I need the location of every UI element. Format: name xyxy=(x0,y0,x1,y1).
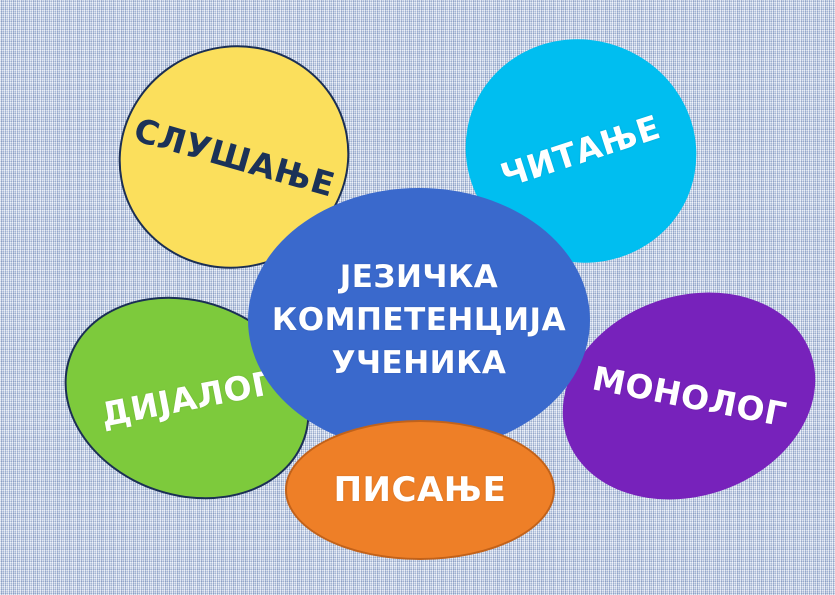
petal-writing[interactable]: ПИСАЊЕ xyxy=(285,420,555,560)
petal-reading-label: ЧИТАЊЕ xyxy=(496,107,665,195)
diagram-canvas: СЛУШАЊЕ ЧИТАЊЕ ДИЈАЛОГ МОНОЛОГ ЈЕЗИЧКА К… xyxy=(0,0,835,595)
petal-writing-label: ПИСАЊЕ xyxy=(334,470,507,510)
petal-listening-label: СЛУШАЊЕ xyxy=(129,110,338,204)
center-line-1: ЈЕЗИЧКА xyxy=(340,259,499,295)
petal-monologue-label: МОНОЛОГ xyxy=(589,358,789,434)
petal-dialogue-label: ДИЈАЛОГ xyxy=(97,362,276,434)
center-node-language-competence[interactable]: ЈЕЗИЧКА КОМПЕТЕНЦИЈА УЧЕНИКА xyxy=(248,188,590,452)
center-line-2: КОМПЕТЕНЦИЈА xyxy=(272,302,566,338)
center-line-3: УЧЕНИКА xyxy=(332,345,507,381)
